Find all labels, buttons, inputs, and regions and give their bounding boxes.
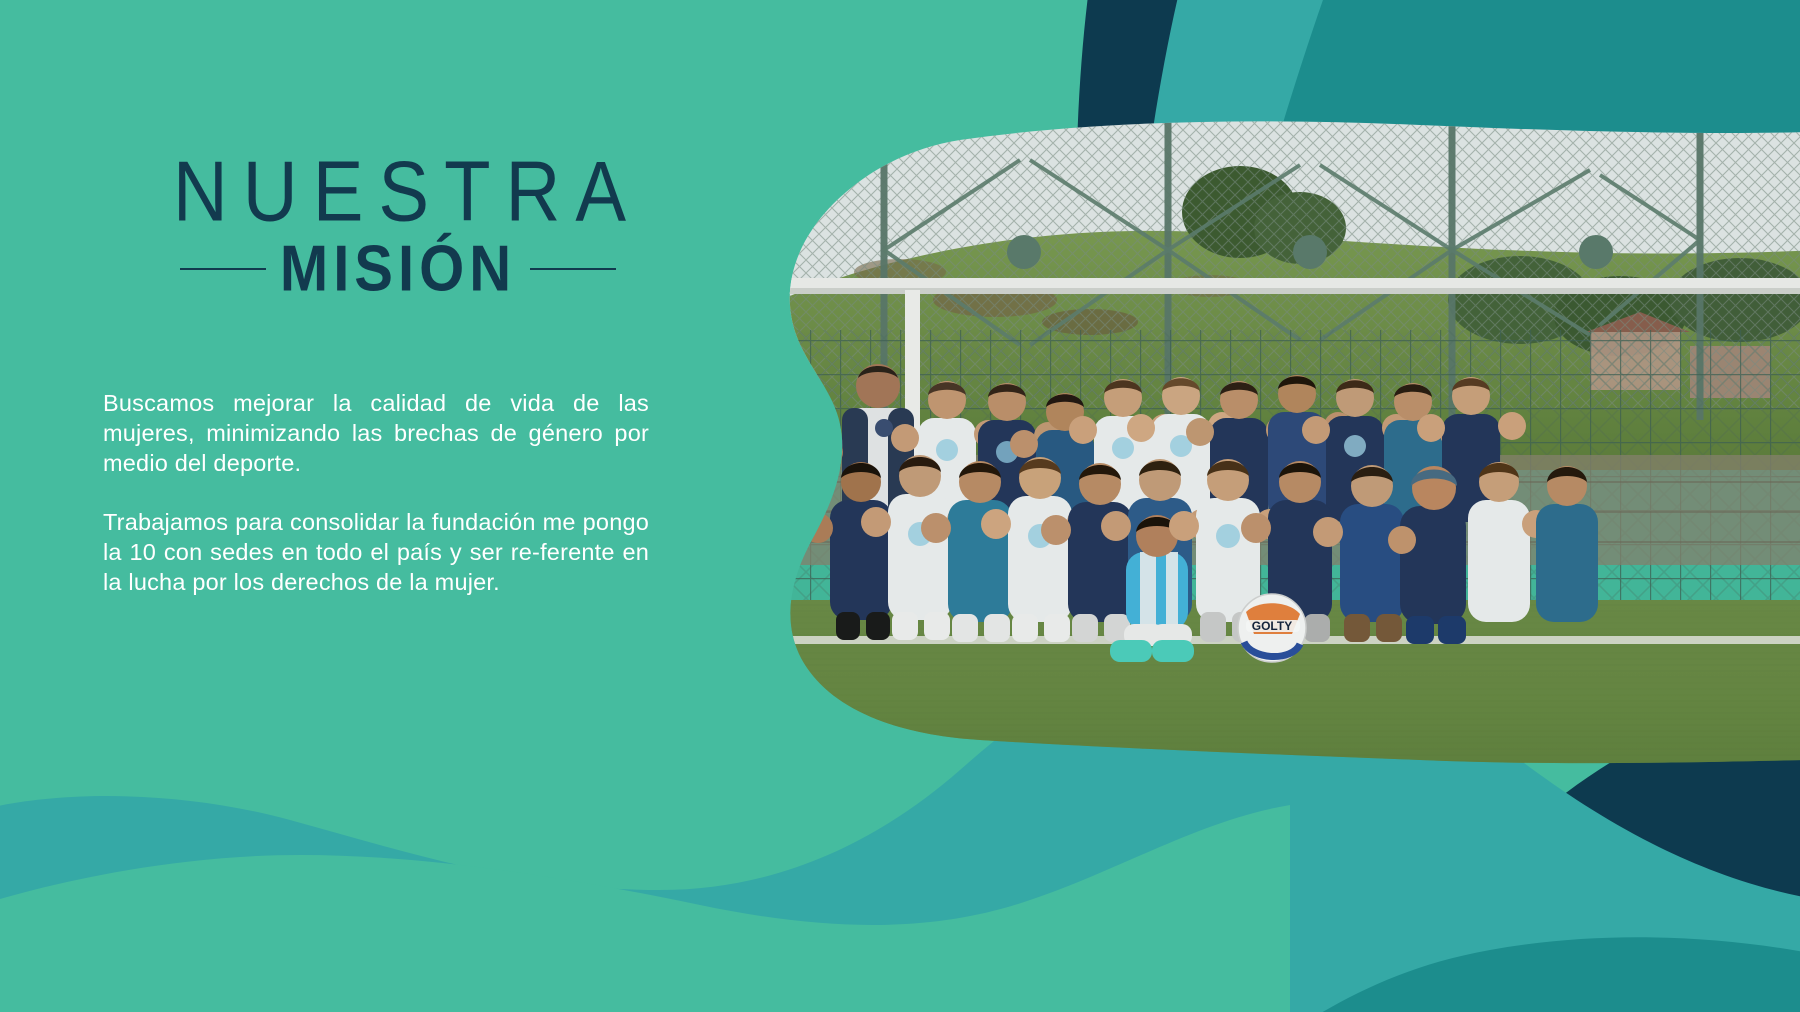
title-block: NUESTRA MISIÓN (118, 150, 678, 298)
title-rule-right (530, 268, 616, 270)
mission-paragraph-2: Trabajamos para consolidar la fundación … (103, 507, 649, 597)
mission-body: Buscamos mejorar la calidad de vida de l… (103, 388, 649, 597)
title-rule-left (180, 268, 266, 270)
page-title-primary: NUESTRA (136, 150, 678, 235)
slide-canvas: GOLTY NUESTRA MISIÓN Buscamos mejorar la… (0, 0, 1800, 1012)
mission-paragraph-1: Buscamos mejorar la calidad de vida de l… (103, 388, 649, 478)
text-column: NUESTRA MISIÓN Buscamos mejorar la calid… (0, 0, 760, 1012)
page-title-secondary: MISIÓN (280, 237, 516, 302)
page-title-secondary-row: MISIÓN (118, 240, 678, 298)
